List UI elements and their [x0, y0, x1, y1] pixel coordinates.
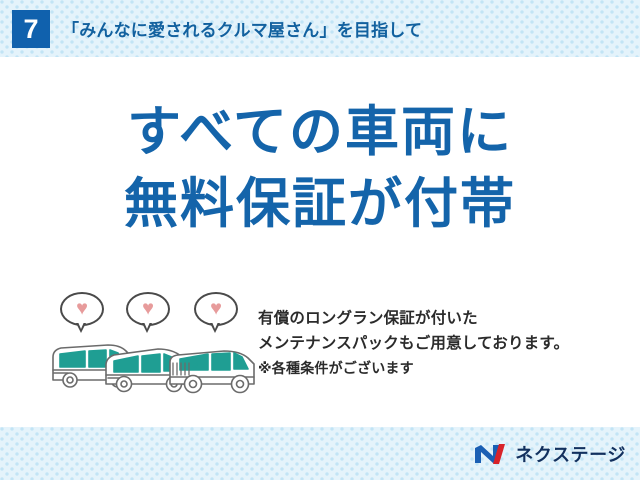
description-line-1: 有償のロングラン保証が付いた: [258, 306, 610, 331]
heart-icon: ♥: [142, 299, 154, 319]
header: 7 「みんなに愛されるクルマ屋さん」を目指して: [0, 0, 640, 57]
nextage-n-mark-icon: [474, 442, 508, 466]
cars-illustration: ♥ ♥ ♥: [48, 292, 260, 396]
headline-line-2: 無料保証が付帯: [0, 168, 640, 240]
header-title: 「みんなに愛されるクルマ屋さん」を目指して: [62, 16, 422, 41]
heart-icon: ♥: [210, 299, 222, 319]
step-number-badge: 7: [12, 10, 50, 48]
description-line-2: メンテナンスパックもご用意しております。: [258, 331, 610, 356]
heart-bubble-2-icon: ♥: [126, 292, 170, 326]
three-cars-icon: [48, 332, 260, 396]
brand-name: ネクステージ: [515, 441, 626, 467]
car-suv: [170, 351, 254, 393]
main-headline: すべての車両に 無料保証が付帯: [0, 96, 640, 240]
description-note: ※各種条件がございます: [258, 356, 610, 381]
advertisement-page: 7 「みんなに愛されるクルマ屋さん」を目指して すべての車両に 無料保証が付帯 …: [0, 0, 640, 480]
description-text: 有償のロングラン保証が付いた メンテナンスパックもご用意しております。 ※各種条…: [258, 306, 610, 381]
headline-line-1: すべての車両に: [0, 96, 640, 168]
heart-bubble-1-icon: ♥: [60, 292, 104, 326]
brand-logo: ネクステージ: [474, 441, 626, 467]
heart-bubble-3-icon: ♥: [194, 292, 238, 326]
heart-icon: ♥: [76, 299, 88, 319]
